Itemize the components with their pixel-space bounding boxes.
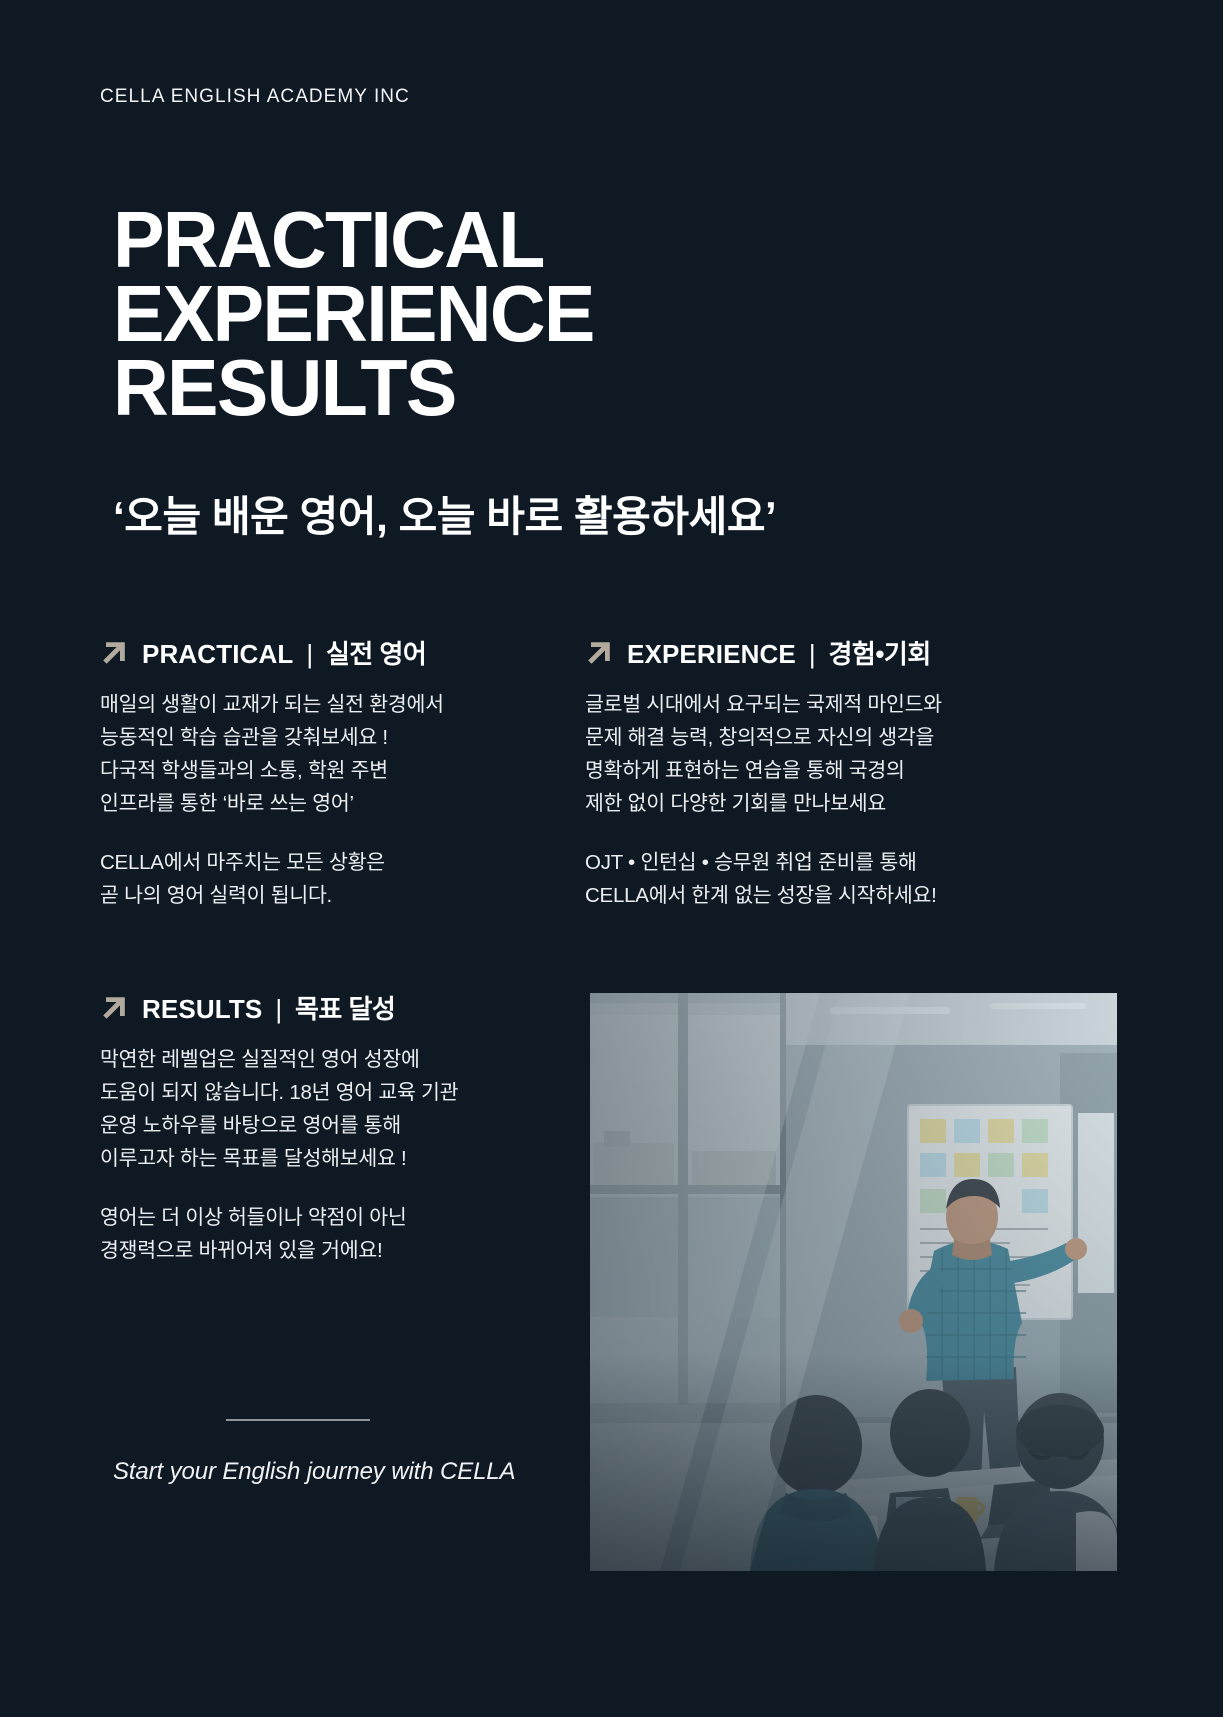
footer-tagline: Start your English journey with CELLA [113,1458,515,1486]
text-line: CELLA에서 한계 없는 성장을 시작하세요! [585,879,1055,912]
text-line: 운영 노하우를 바탕으로 영어를 통해 [100,1109,570,1142]
footer-divider [226,1419,370,1421]
text-line: 다국적 학생들과의 소통, 학원 주변 [100,754,570,787]
text-line: 이루고자 하는 목표를 달성해보세요 ! [100,1142,570,1175]
text-line: CELLA에서 마주치는 모든 상황은 [100,846,570,879]
headline-line-2: EXPERIENCE [113,277,594,351]
text-line: 인프라를 통한 ‘바로 쓰는 영어’ [100,787,570,820]
text-line: 영어는 더 이상 허들이나 약점이 아닌 [100,1201,570,1234]
text-line: OJT • 인턴십 • 승무원 취업 준비를 통해 [585,846,1055,879]
headline-line-3: RESULTS [113,351,594,425]
section-practical-title-separator: | [295,639,324,670]
section-results-title-ko: 목표 달성 [295,989,395,1026]
section-results-header: RESULTS | 목표 달성 [100,985,570,1029]
text-line: 명확하게 표현하는 연습을 통해 국경의 [585,754,1055,787]
section-experience-title-separator: | [798,639,827,670]
section-practical-header: PRACTICAL | 실전 영어 [100,630,570,674]
section-results-paragraph-2: 영어는 더 이상 허들이나 약점이 아닌 경쟁력으로 바뀌어져 있을 거에요! [100,1201,570,1267]
section-experience-title: EXPERIENCE | 경험•기회 [627,634,931,671]
section-experience-title-en: EXPERIENCE [627,639,796,670]
section-experience-paragraph-2: OJT • 인턴십 • 승무원 취업 준비를 통해 CELLA에서 한계 없는 … [585,846,1055,912]
section-practical-title-ko: 실전 영어 [326,634,426,671]
text-line: 매일의 생활이 교재가 되는 실전 환경에서 [100,688,570,721]
section-results-paragraph-1: 막연한 레벨업은 실질적인 영어 성장에 도움이 되지 않습니다. 18년 영어… [100,1043,570,1175]
section-practical-paragraph-1: 매일의 생활이 교재가 되는 실전 환경에서 능동적인 학습 습관을 갖춰보세요… [100,688,570,820]
headline-line-1: PRACTICAL [113,203,594,277]
section-results-title-separator: | [264,994,293,1025]
text-line: 능동적인 학습 습관을 갖춰보세요 ! [100,721,570,754]
poster-canvas: CELLA ENGLISH ACADEMY INC PRACTICAL EXPE… [0,0,1223,1717]
subtitle: ‘오늘 배운 영어, 오늘 바로 활용하세요’ [113,490,776,544]
brand-name: CELLA ENGLISH ACADEMY INC [100,86,410,108]
arrow-up-right-icon [100,639,128,667]
photo-illustration [590,993,1117,1571]
section-practical-title-en: PRACTICAL [142,639,293,670]
text-line: 도움이 되지 않습니다. 18년 영어 교육 기관 [100,1076,570,1109]
text-line: 문제 해결 능력, 창의적으로 자신의 생각을 [585,721,1055,754]
text-line: 막연한 레벨업은 실질적인 영어 성장에 [100,1043,570,1076]
section-experience-title-ko: 경험•기회 [829,634,931,671]
section-experience-header: EXPERIENCE | 경험•기회 [585,630,1055,674]
text-line: 경쟁력으로 바뀌어져 있을 거에요! [100,1234,570,1267]
section-practical: PRACTICAL | 실전 영어 매일의 생활이 교재가 되는 실전 환경에서… [100,630,570,912]
section-experience-paragraph-1: 글로벌 시대에서 요구되는 국제적 마인드와 문제 해결 능력, 창의적으로 자… [585,688,1055,820]
section-results-title-en: RESULTS [142,994,262,1025]
section-experience: EXPERIENCE | 경험•기회 글로벌 시대에서 요구되는 국제적 마인드… [585,630,1055,912]
text-line: 곧 나의 영어 실력이 됩니다. [100,879,570,912]
text-line: 제한 없이 다양한 기회를 만나보세요 [585,787,1055,820]
section-results: RESULTS | 목표 달성 막연한 레벨업은 실질적인 영어 성장에 도움이… [100,985,570,1267]
section-results-title: RESULTS | 목표 달성 [142,989,395,1026]
section-practical-title: PRACTICAL | 실전 영어 [142,634,426,671]
arrow-up-right-icon [585,639,613,667]
section-practical-paragraph-2: CELLA에서 마주치는 모든 상황은 곧 나의 영어 실력이 됩니다. [100,846,570,912]
text-line: 글로벌 시대에서 요구되는 국제적 마인드와 [585,688,1055,721]
page-title: PRACTICAL EXPERIENCE RESULTS [113,203,594,425]
arrow-up-right-icon [100,994,128,1022]
classroom-meeting-photo [590,993,1117,1571]
